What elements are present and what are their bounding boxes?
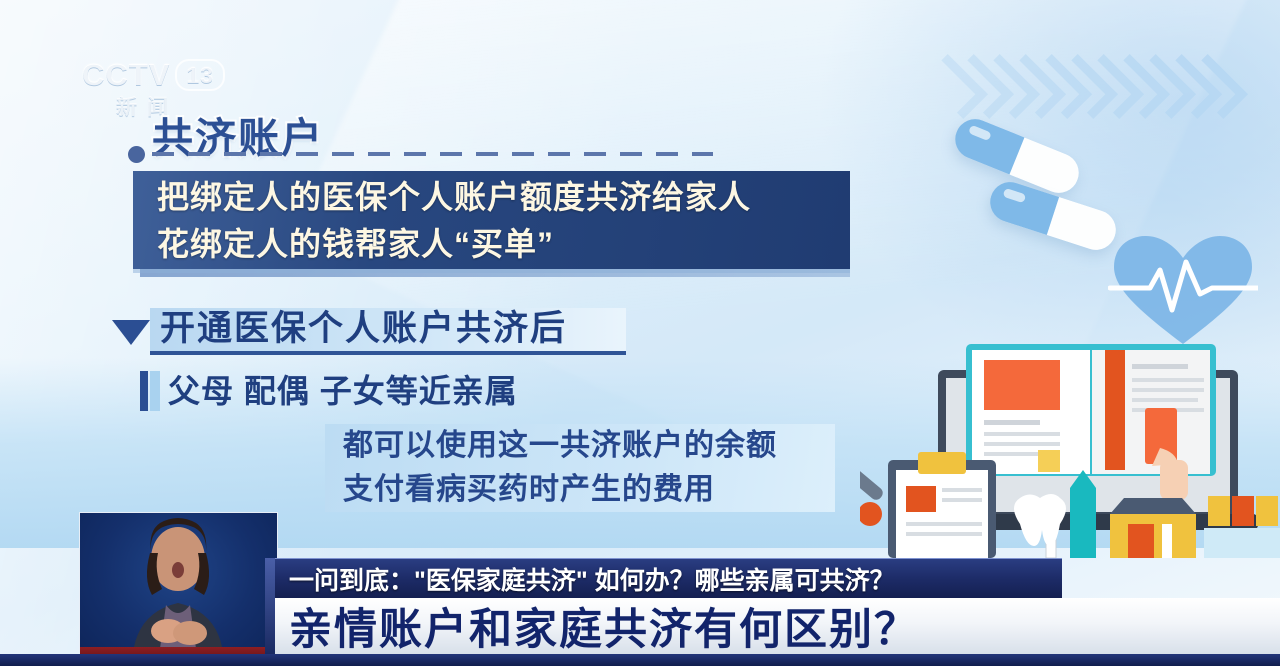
logo-channel-number: 13 <box>175 59 225 91</box>
broadcast-screen: CCTV 13 新闻 共济账户 把绑定人的医保个人账户额度共济给家人 花绑定人的… <box>0 0 1280 666</box>
paragraph-line-2: 支付看病买药时产生的费用 <box>325 468 835 512</box>
section2-underline <box>150 351 626 355</box>
highlight-box: 把绑定人的医保个人账户额度共济给家人 花绑定人的钱帮家人“买单” <box>133 171 850 269</box>
topic-banner: 一问到底："医保家庭共济" 如何办？哪些亲属可共济？ <box>275 558 1062 599</box>
chevron-arrows-icon <box>938 58 1238 118</box>
paragraph-line-1: 都可以使用这一共济账户的余额 <box>325 424 835 468</box>
kinship-marker-light <box>150 371 160 411</box>
headline-banner-text: 亲情账户和家庭共济有何区别？ <box>275 595 919 657</box>
highlight-box-shadow <box>140 268 850 277</box>
paragraph-box: 都可以使用这一共济账户的余额 支付看病买药时产生的费用 <box>325 424 835 512</box>
sign-language-anchor-window <box>79 512 278 664</box>
section2-title: 开通医保个人账户共济后 <box>160 307 567 351</box>
kinship-line: 父母 配偶 子女等近亲属 <box>168 370 518 412</box>
headline-banner: 亲情账户和家庭共济有何区别？ <box>275 598 1280 654</box>
title-divider <box>128 145 713 163</box>
dashed-rule <box>152 152 713 156</box>
banner-footer-strip <box>0 654 1280 666</box>
highlight-box-line-1: 把绑定人的医保个人账户额度共济给家人 <box>133 171 850 221</box>
banner-left-cap <box>265 558 275 654</box>
logo-cctv-text: CCTV <box>82 57 170 93</box>
kinship-marker-dark <box>140 371 148 411</box>
medical-desk-illustration <box>860 328 1280 558</box>
logo-main-row: CCTV 13 <box>82 57 252 93</box>
triangle-down-icon <box>112 320 150 345</box>
highlight-box-line-2: 花绑定人的钱帮家人“买单” <box>133 221 850 268</box>
topic-banner-text: 一问到底："医保家庭共济" 如何办？哪些亲属可共济？ <box>275 561 895 597</box>
bullet-dot-icon <box>128 146 145 163</box>
